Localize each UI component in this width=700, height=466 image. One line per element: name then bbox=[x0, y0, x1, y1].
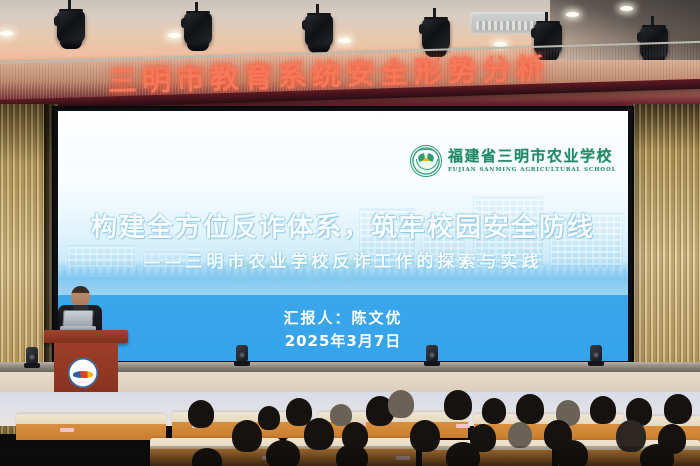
audience-head bbox=[508, 422, 532, 448]
audience-head bbox=[388, 390, 414, 418]
downlight bbox=[168, 33, 181, 38]
audience-head bbox=[482, 398, 506, 424]
moving-head-light-icon bbox=[24, 346, 40, 368]
downlight bbox=[338, 38, 351, 43]
school-emblem-icon bbox=[68, 358, 98, 388]
moving-head-light-icon bbox=[234, 344, 250, 366]
school-seal-icon bbox=[410, 145, 442, 177]
foreground-shadow bbox=[0, 446, 700, 466]
seat-row bbox=[16, 414, 166, 440]
audience-head bbox=[664, 394, 692, 424]
slide-presenter: 汇报人：陈文优 bbox=[58, 307, 628, 328]
school-logo: 福建省三明市农业学校 FUJIAN SANMING AGRICULTURAL S… bbox=[410, 145, 616, 177]
moving-head-light-icon bbox=[588, 344, 604, 366]
school-name-cn: 福建省三明市农业学校 bbox=[448, 149, 616, 164]
seat-card bbox=[456, 424, 470, 428]
audience-head bbox=[258, 406, 280, 430]
downlight bbox=[566, 12, 579, 17]
school-name-en: FUJIAN SANMING AGRICULTURAL SCHOOL bbox=[448, 167, 616, 173]
seat-card bbox=[60, 428, 74, 432]
campus-plaza bbox=[58, 273, 628, 295]
audience-head bbox=[516, 394, 544, 424]
audience-head bbox=[590, 396, 616, 424]
downlight bbox=[0, 31, 13, 36]
moving-head-light-icon bbox=[424, 344, 440, 366]
auditorium-scene: 三明市教育系统安全形势分析 福建省三明市农业学 bbox=[0, 0, 700, 466]
slide-date: 2025年3月7日 bbox=[58, 330, 628, 351]
slide-title: 构建全方位反诈体系，筑牢校园安全防线 bbox=[58, 207, 628, 244]
laptop-on-podium bbox=[60, 310, 96, 332]
downlight bbox=[620, 6, 633, 11]
slide-subtitle: ——三明市农业学校反诈工作的探索与实践 bbox=[58, 247, 628, 272]
audience-head bbox=[188, 400, 214, 428]
audience-head bbox=[444, 390, 472, 420]
projection-screen: 福建省三明市农业学校 FUJIAN SANMING AGRICULTURAL S… bbox=[58, 111, 628, 361]
